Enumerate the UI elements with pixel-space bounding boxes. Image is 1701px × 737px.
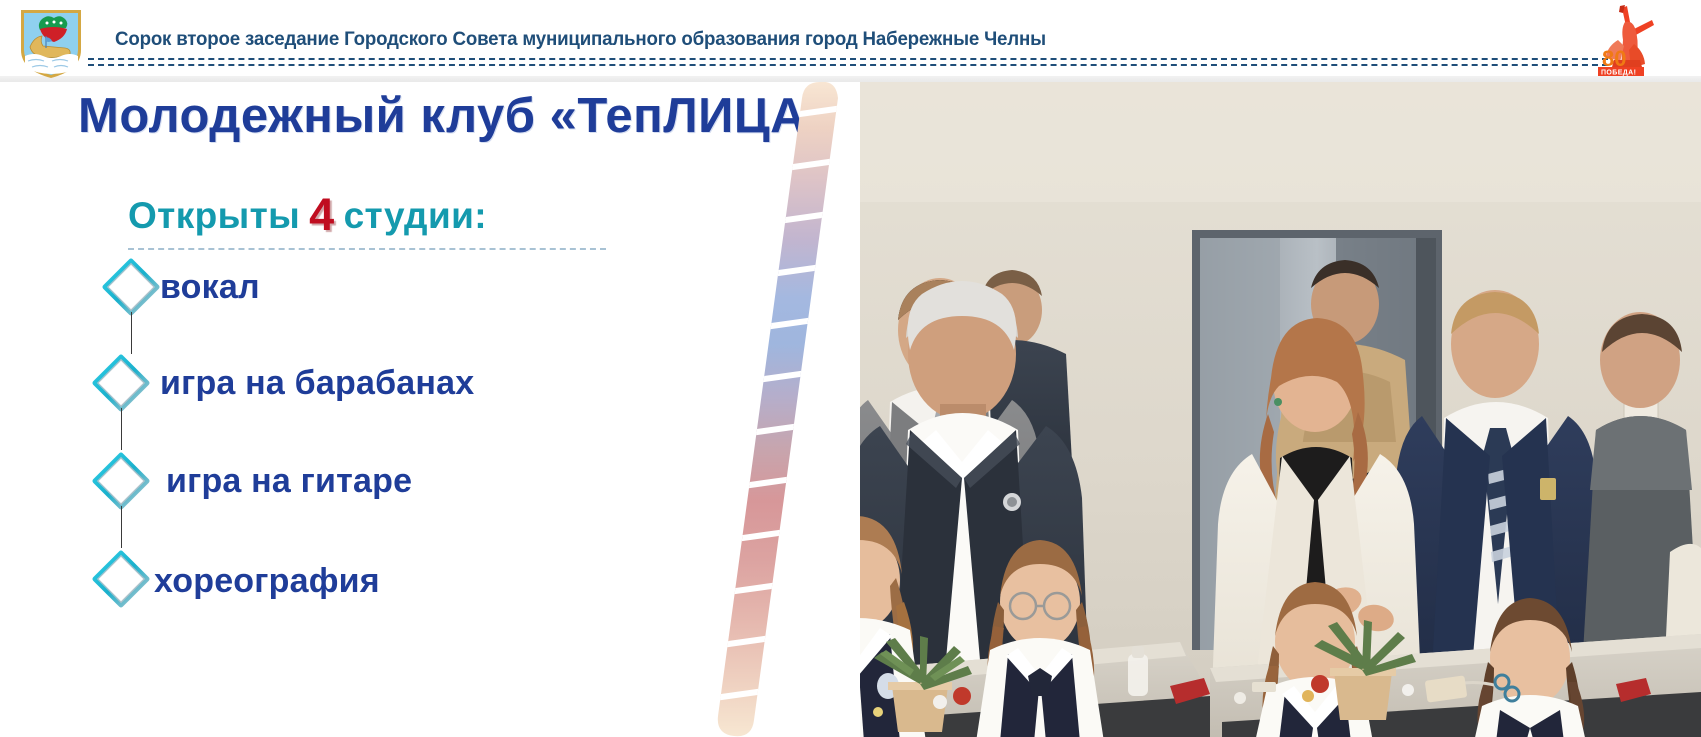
subtitle-prefix: Открыты [128, 195, 300, 236]
list-connector [131, 312, 132, 354]
youth-club-visit-photo [740, 82, 1701, 737]
diamond-bullet-icon [92, 354, 150, 412]
studio-list: вокал игра на барабанах игра на гитаре [88, 254, 708, 646]
page-title: Молодежный клуб «ТепЛИЦА» [78, 88, 834, 144]
subtitle-underline [128, 248, 606, 250]
left-content-area: Молодежный клуб «ТепЛИЦА» Открыты4студии… [0, 82, 860, 737]
list-connector [121, 506, 122, 548]
list-item: вокал [88, 254, 708, 352]
subtitle-block: Открыты4студии: [128, 187, 618, 250]
subtitle-suffix: студии: [344, 195, 487, 236]
list-item-label: хореография [154, 562, 380, 601]
divider-line-bottom [88, 64, 1608, 66]
header-divider [88, 58, 1608, 68]
naberezhnye-chelny-coat-of-arms-icon [16, 7, 86, 81]
header-bar: Сорок второе заседание Городского Совета… [0, 0, 1701, 76]
diamond-bullet-icon [92, 550, 150, 608]
header-title: Сорок второе заседание Городского Совета… [115, 28, 1363, 51]
header-bottom-shadow [0, 76, 1701, 82]
subtitle: Открыты4студии: [128, 187, 618, 239]
diamond-bullet-icon [92, 452, 150, 510]
photo-panel [740, 82, 1701, 737]
list-item: игра на гитаре [88, 450, 708, 548]
diamond-bullet-icon [102, 258, 160, 316]
list-item-label: игра на барабанах [160, 364, 474, 403]
victory-80-anniversary-icon: 80 ПОБЕДА! [1596, 4, 1658, 76]
list-item: хореография [88, 548, 708, 646]
list-item-label: вокал [160, 268, 260, 307]
list-item-label: игра на гитаре [166, 462, 412, 501]
list-item: игра на барабанах [88, 352, 708, 450]
divider-line-top [88, 58, 1608, 60]
svg-text:ПОБЕДА!: ПОБЕДА! [1601, 70, 1636, 77]
studio-count: 4 [300, 189, 343, 240]
slide-root: Молодежный клуб «ТепЛИЦА» Открыты4студии… [0, 0, 1701, 737]
list-connector [121, 408, 122, 450]
